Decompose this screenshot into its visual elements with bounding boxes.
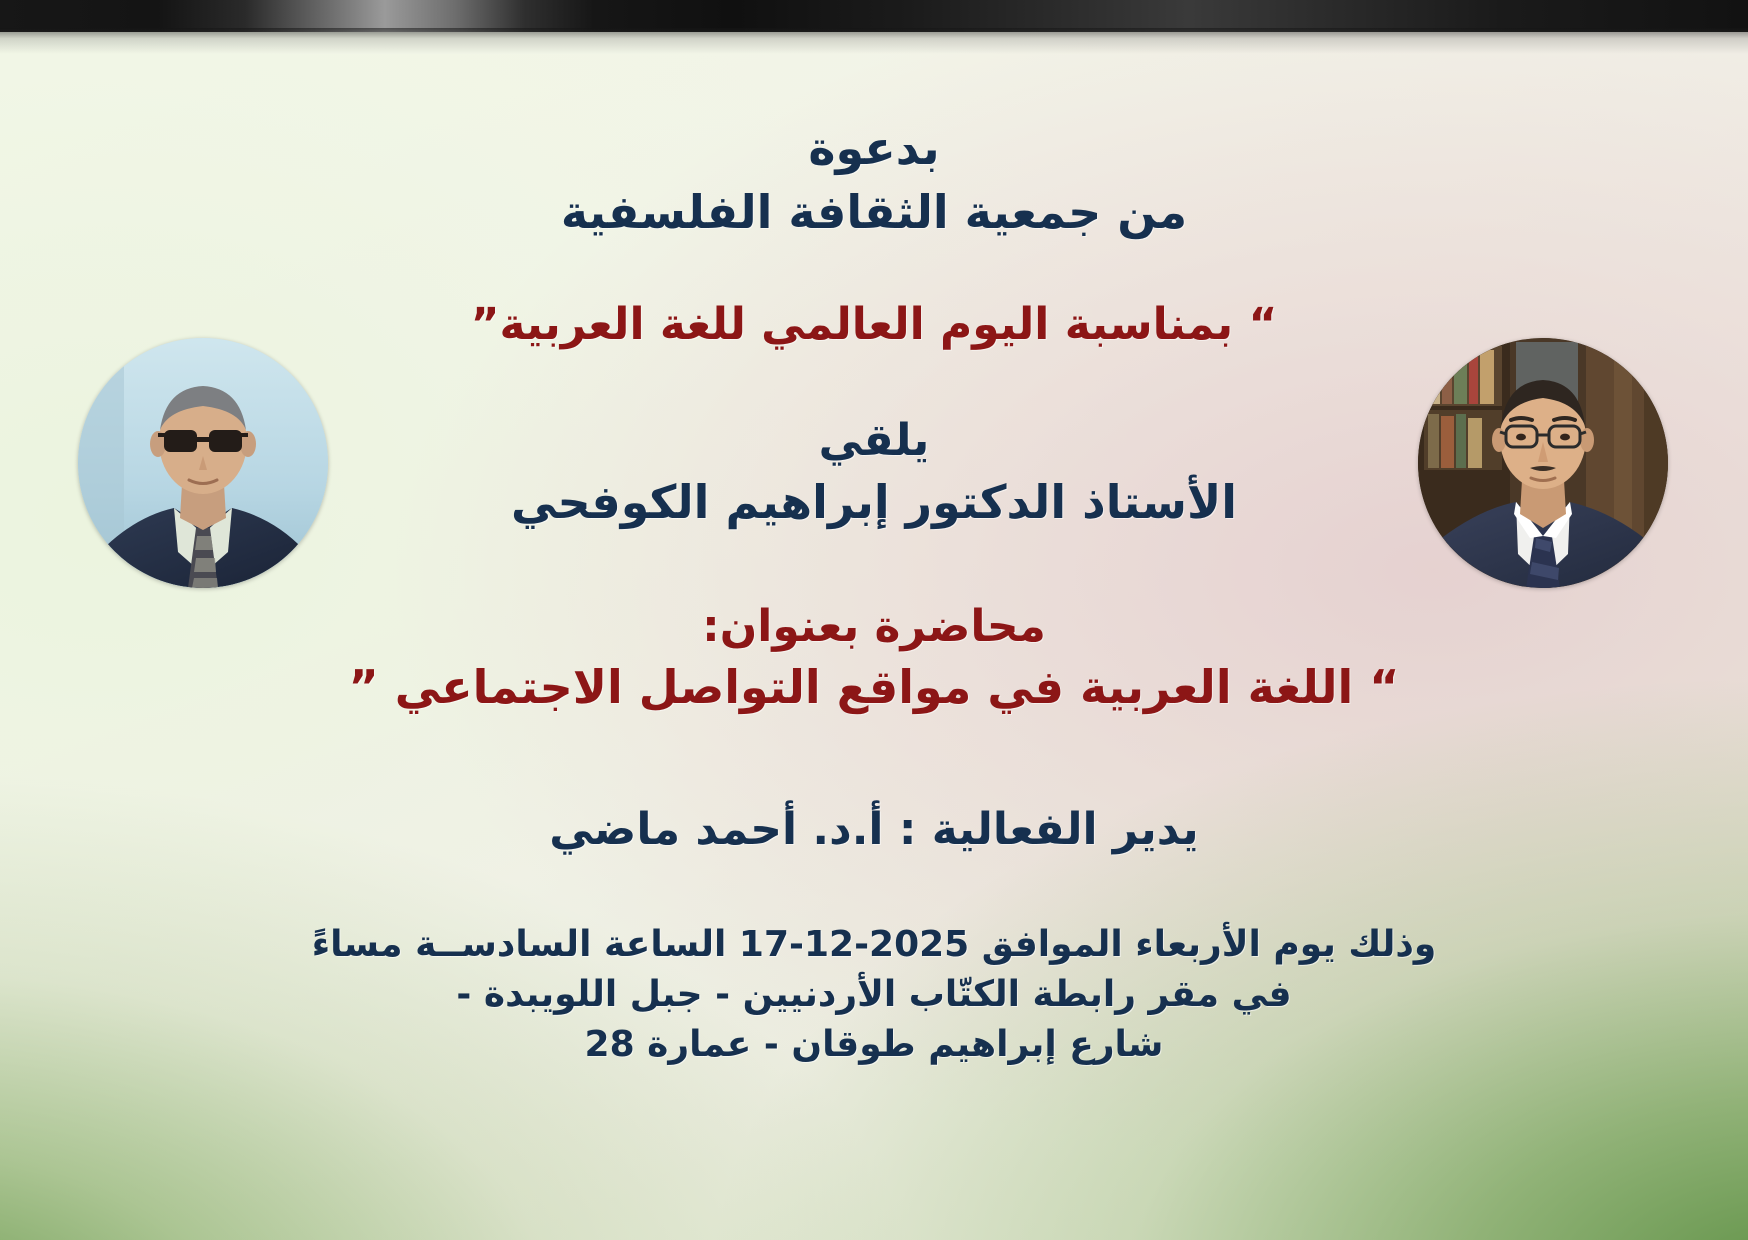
gives-label: يلقي: [0, 414, 1748, 468]
details-street: شارع إبراهيم طوقان - عمارة 28: [312, 1023, 1437, 1067]
lecture-title: “ اللغة العربية في مواقع التواصل الاجتما…: [0, 659, 1748, 715]
details-venue: في مقر رابطة الكتّاب الأردنيين - جبل الل…: [312, 973, 1437, 1017]
poster-text-content: بدعوة من جمعية الثقافة الفلسفية “ بمناسب…: [0, 0, 1748, 1240]
lecture-label: محاضرة بعنوان:: [0, 600, 1748, 654]
details-date-time: وذلك يوم الأربعاء الموافق 2025-12-17 الس…: [312, 923, 1437, 967]
moderator-line: يدير الفعالية : أ.د. أحمد ماضي: [0, 803, 1748, 857]
event-details-block: وذلك يوم الأربعاء الموافق 2025-12-17 الس…: [312, 917, 1437, 1067]
invitation-line-1: بدعوة: [0, 120, 1748, 176]
speaker-name: الأستاذ الدكتور إبراهيم الكوفحي: [0, 474, 1748, 530]
poster-canvas: بدعوة من جمعية الثقافة الفلسفية “ بمناسب…: [0, 0, 1748, 1240]
invitation-line-2: من جمعية الثقافة الفلسفية: [0, 184, 1748, 240]
occasion-line: “ بمناسبة اليوم العالمي للغة العربية”: [0, 298, 1748, 352]
